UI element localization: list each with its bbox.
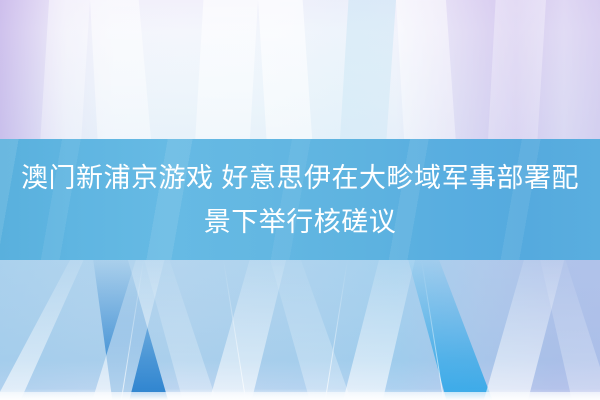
lower-panel-tint — [0, 259, 600, 400]
lower-facet-panel — [0, 259, 600, 400]
article-headline: 澳门新浦京游戏 好意思伊在大畛域军事部署配 景下举行核磋议 — [21, 156, 579, 244]
bottom-strip — [0, 392, 600, 400]
headline-line-2: 景下举行核磋议 — [21, 200, 579, 244]
article-banner: 澳门新浦京游戏 好意思伊在大畛域军事部署配 景下举行核磋议 — [0, 0, 600, 400]
headline-band: 澳门新浦京游戏 好意思伊在大畛域军事部署配 景下举行核磋议 — [0, 139, 600, 260]
headline-line-1: 澳门新浦京游戏 好意思伊在大畛域军事部署配 — [21, 163, 579, 193]
